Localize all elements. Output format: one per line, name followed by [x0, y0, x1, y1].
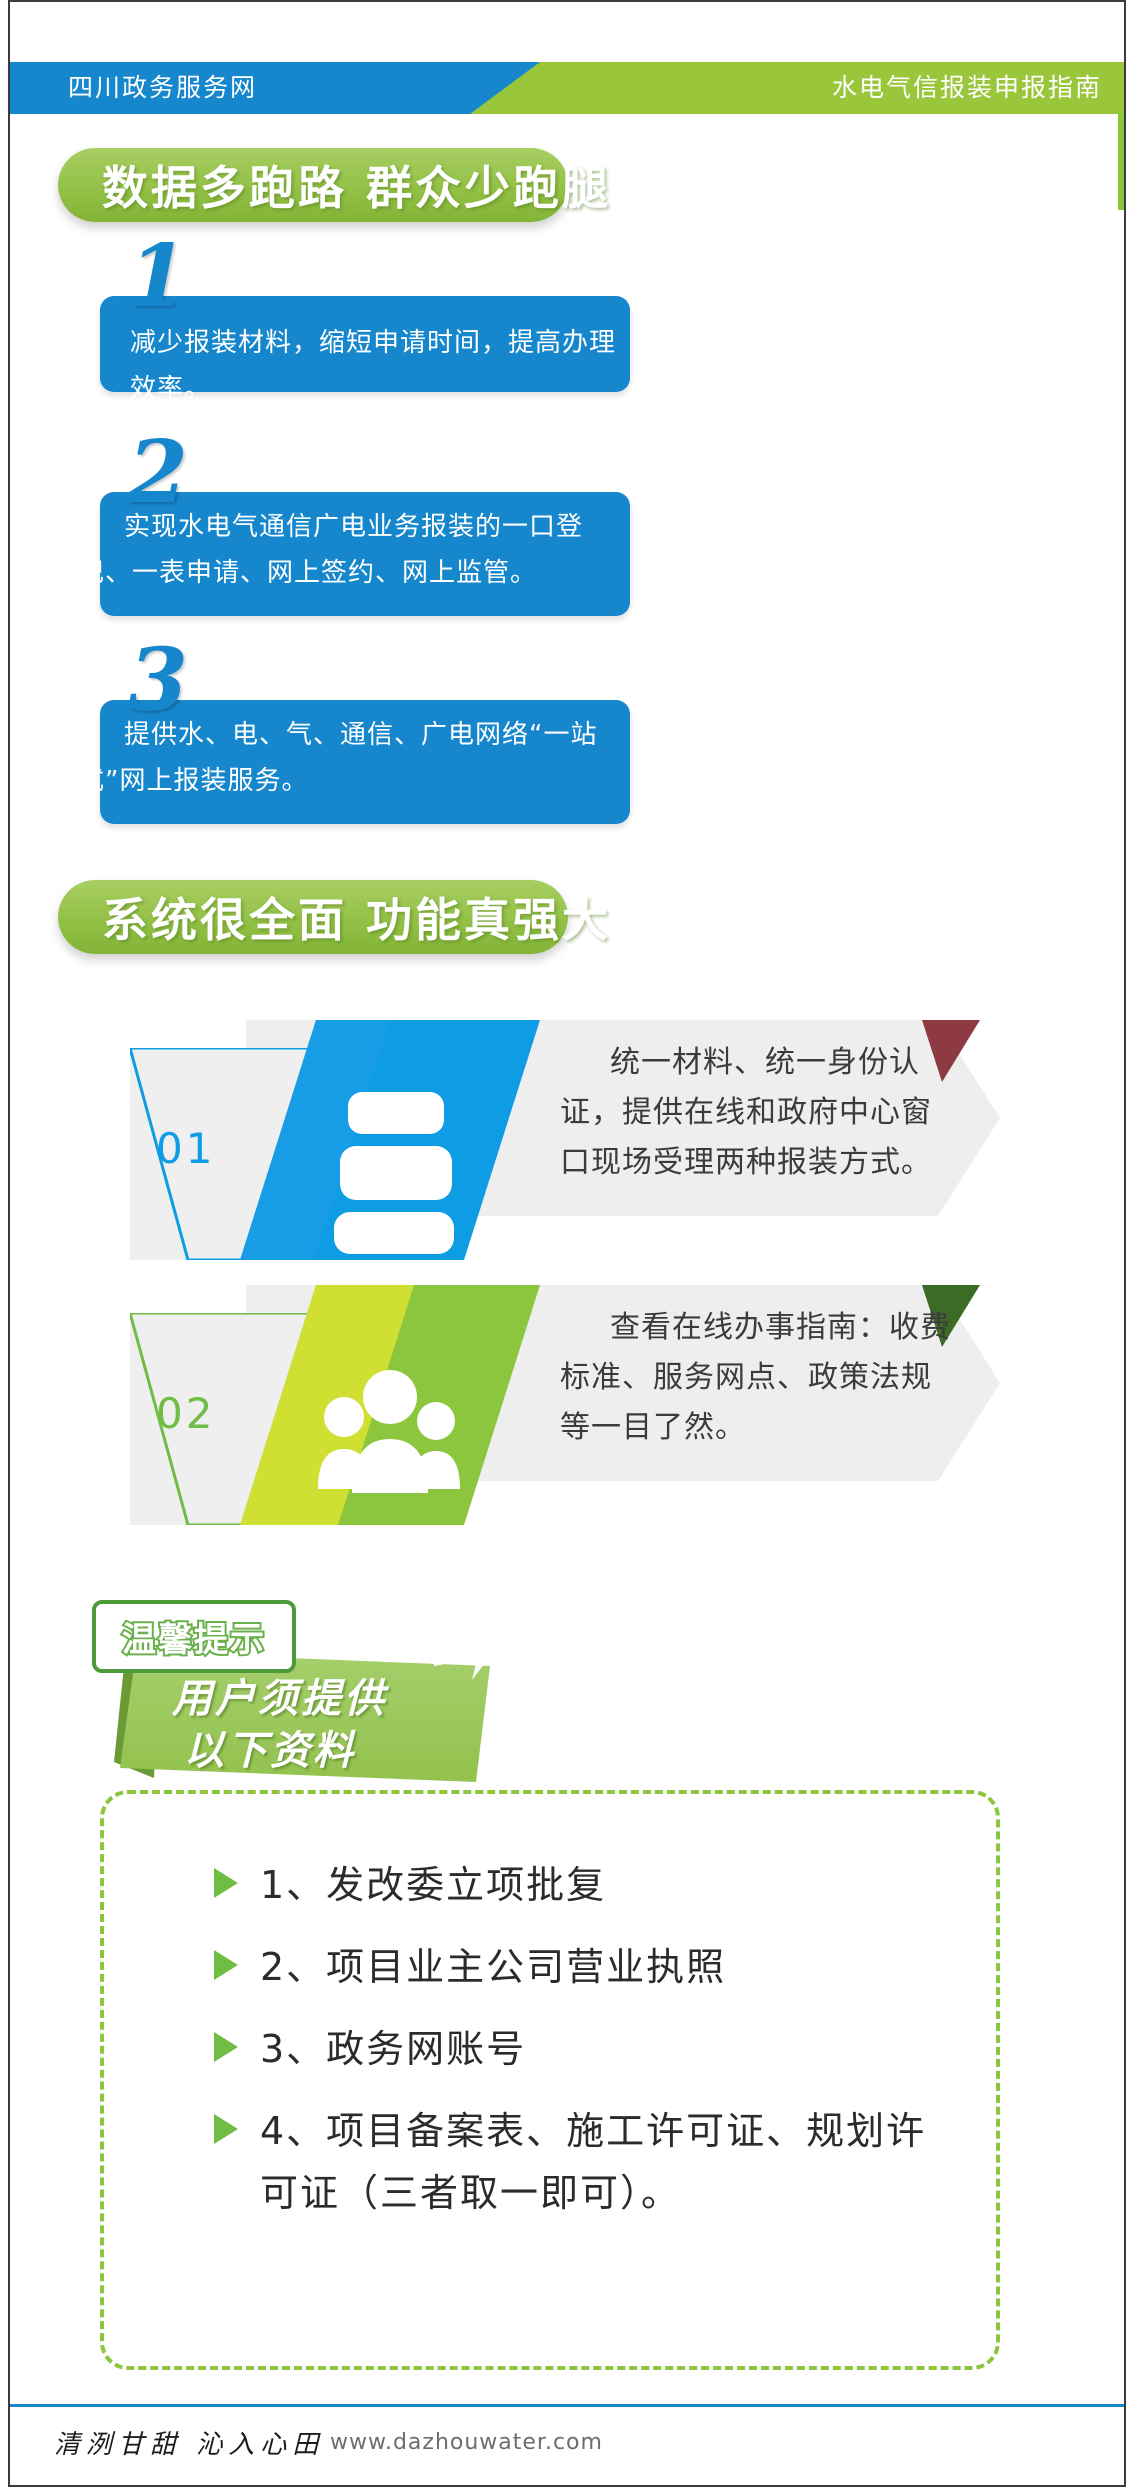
tips-line-2: 以下资料	[184, 1718, 356, 1776]
list-item: 2、项目业主公司营业执照	[214, 1936, 954, 1998]
triangle-bullet-icon	[214, 1950, 238, 1980]
numbered-item-1-text: 减少报装材料，缩短申请时间，提高办理效率。	[130, 320, 630, 412]
list-item: 4、项目备案表、施工许可证、规划许可证（三者取一即可）。	[214, 2100, 954, 2224]
feature-01-number: 01	[156, 1124, 215, 1173]
tips-banner: 用户须提供 以下资料 温馨提示	[120, 1600, 540, 1800]
numbered-item-2: 2 实现水电气通信广电业务报装的一口登记、一表申请、网上签约、网上监管。	[100, 446, 660, 626]
section-title-text-1: 数据多跑路 群众少跑腿	[102, 152, 611, 218]
section-title-text-2: 系统很全面 功能真强大	[102, 884, 611, 950]
border-right	[1124, 0, 1126, 2487]
header-guide-title: 水电气信报装申报指南	[832, 62, 1102, 114]
feature-01-icon-panel	[240, 1020, 540, 1260]
list-item-text: 3、政务网账号	[260, 2018, 526, 2080]
footer-slogan: 清洌甘甜 沁入心田	[54, 2424, 324, 2461]
tips-tab-label: 温馨提示	[122, 1620, 266, 1660]
tips-tab: 温馨提示	[92, 1600, 296, 1673]
feature-02-description: 查看在线办事指南：收费标准、服务网点、政策法规等一目了然。	[560, 1303, 960, 1453]
numbered-item-3-text: 提供水、电、气、通信、广电网络“一站式”网上报装服务。	[78, 712, 634, 804]
page-footer: 清洌甘甜 沁入心田 www.dazhouwater.com	[10, 2410, 1124, 2480]
header-site-name: 四川政务服务网	[68, 62, 257, 114]
tips-line-1: 用户须提供	[172, 1666, 387, 1724]
feature-02-number: 02	[156, 1389, 215, 1438]
feature-01-description: 统一材料、统一身份认证，提供在线和政府中心窗口现场受理两种报装方式。	[560, 1038, 960, 1188]
list-item-text: 4、项目备案表、施工许可证、规划许可证（三者取一即可）。	[260, 2100, 954, 2224]
requirements-list: 1、发改委立项批复 2、项目业主公司营业执照 3、政务网账号 4、项目备案表、施…	[214, 1854, 954, 2244]
triangle-bullet-icon	[214, 2114, 238, 2144]
requirements-box: 1、发改委立项批复 2、项目业主公司营业执照 3、政务网账号 4、项目备案表、施…	[100, 1790, 1000, 2370]
feature-card-01: 01 统一材料、统一身份认证，提供在线和政府中心窗口现场受理两种报装方式。	[60, 1020, 1000, 1260]
footer-divider	[10, 2404, 1124, 2407]
footer-url[interactable]: www.dazhouwater.com	[330, 2430, 603, 2455]
triangle-bullet-icon	[214, 1868, 238, 1898]
triangle-bullet-icon	[214, 2032, 238, 2062]
section-title-banner-2: 系统很全面 功能真强大	[58, 880, 568, 954]
page-header: 四川政务服务网 水电气信报装申报指南	[10, 62, 1124, 114]
border-left	[8, 0, 10, 2487]
section-title-banner-1: 数据多跑路 群众少跑腿	[58, 148, 568, 222]
list-item-text: 2、项目业主公司营业执照	[260, 1936, 726, 1998]
stacked-bars-icon	[334, 1092, 454, 1254]
feature-card-02: 02 查看在线办事指南：收费标准、服务网点、政策法规等一目了然。	[60, 1285, 1000, 1525]
sparkle-icon	[420, 1636, 510, 1696]
numbered-item-1: 1 减少报装材料，缩短申请时间，提高办理效率。	[100, 250, 660, 400]
border-top	[8, 0, 1126, 2]
list-item: 3、政务网账号	[214, 2018, 954, 2080]
list-item-text: 1、发改委立项批复	[260, 1854, 606, 1916]
numbered-item-3: 3 提供水、电、气、通信、广电网络“一站式”网上报装服务。	[100, 654, 660, 834]
numbered-item-1-digit: 1	[128, 234, 188, 320]
feature-02-icon-panel	[240, 1285, 540, 1525]
poster-page: 四川政务服务网 水电气信报装申报指南 数据多跑路 群众少跑腿 1 减少报装材料，…	[0, 0, 1132, 2487]
list-item: 1、发改委立项批复	[214, 1854, 954, 1916]
numbered-item-2-text: 实现水电气通信广电业务报装的一口登记、一表申请、网上签约、网上监管。	[78, 504, 634, 596]
